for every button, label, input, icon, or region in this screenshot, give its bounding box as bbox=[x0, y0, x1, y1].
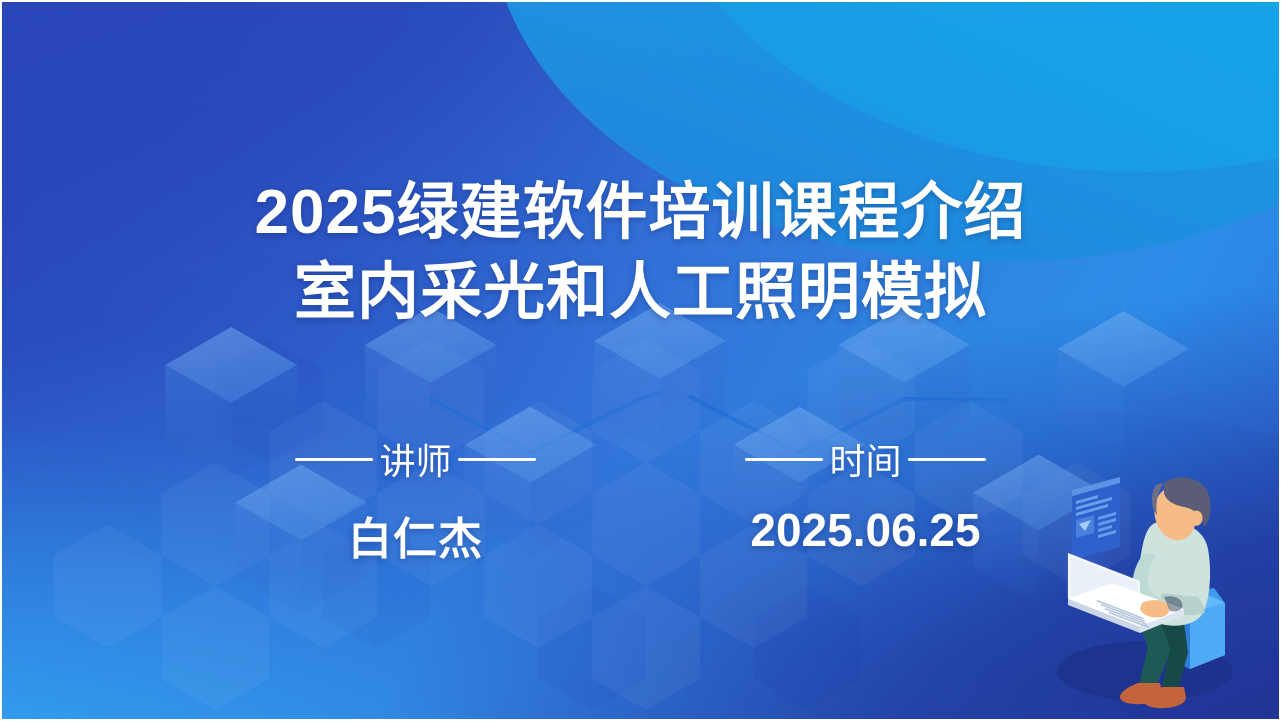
floating-window-icon bbox=[1072, 477, 1120, 560]
page-title: 2025绿建软件培训课程介绍 bbox=[255, 180, 1027, 246]
meta-block: 讲师 白仁杰 时间 2025.06.25 bbox=[266, 433, 1016, 567]
date-label-row: 时间 bbox=[745, 433, 985, 485]
presentation-cover-slide: 2025绿建软件培训课程介绍 室内采光和人工照明模拟 讲师 白仁杰 时间 202… bbox=[0, 0, 1281, 721]
rule-right-icon bbox=[458, 458, 536, 461]
instructor-label-row: 讲师 bbox=[295, 433, 535, 485]
rule-left-icon bbox=[745, 458, 823, 461]
date-column: 时间 2025.06.25 bbox=[716, 433, 1016, 557]
page-subtitle: 室内采光和人工照明模拟 bbox=[255, 260, 1027, 326]
rule-right-icon bbox=[908, 458, 986, 461]
date-value: 2025.06.25 bbox=[750, 503, 980, 557]
title-block: 2025绿建软件培训课程介绍 室内采光和人工照明模拟 bbox=[255, 180, 1027, 325]
instructor-name: 白仁杰 bbox=[348, 503, 483, 567]
rule-left-icon bbox=[295, 458, 373, 461]
person-with-laptop-illustration bbox=[1038, 457, 1253, 719]
instructor-column: 讲师 白仁杰 bbox=[266, 433, 566, 567]
date-label: 时间 bbox=[829, 433, 901, 485]
head bbox=[1152, 478, 1211, 540]
instructor-label: 讲师 bbox=[379, 433, 451, 485]
